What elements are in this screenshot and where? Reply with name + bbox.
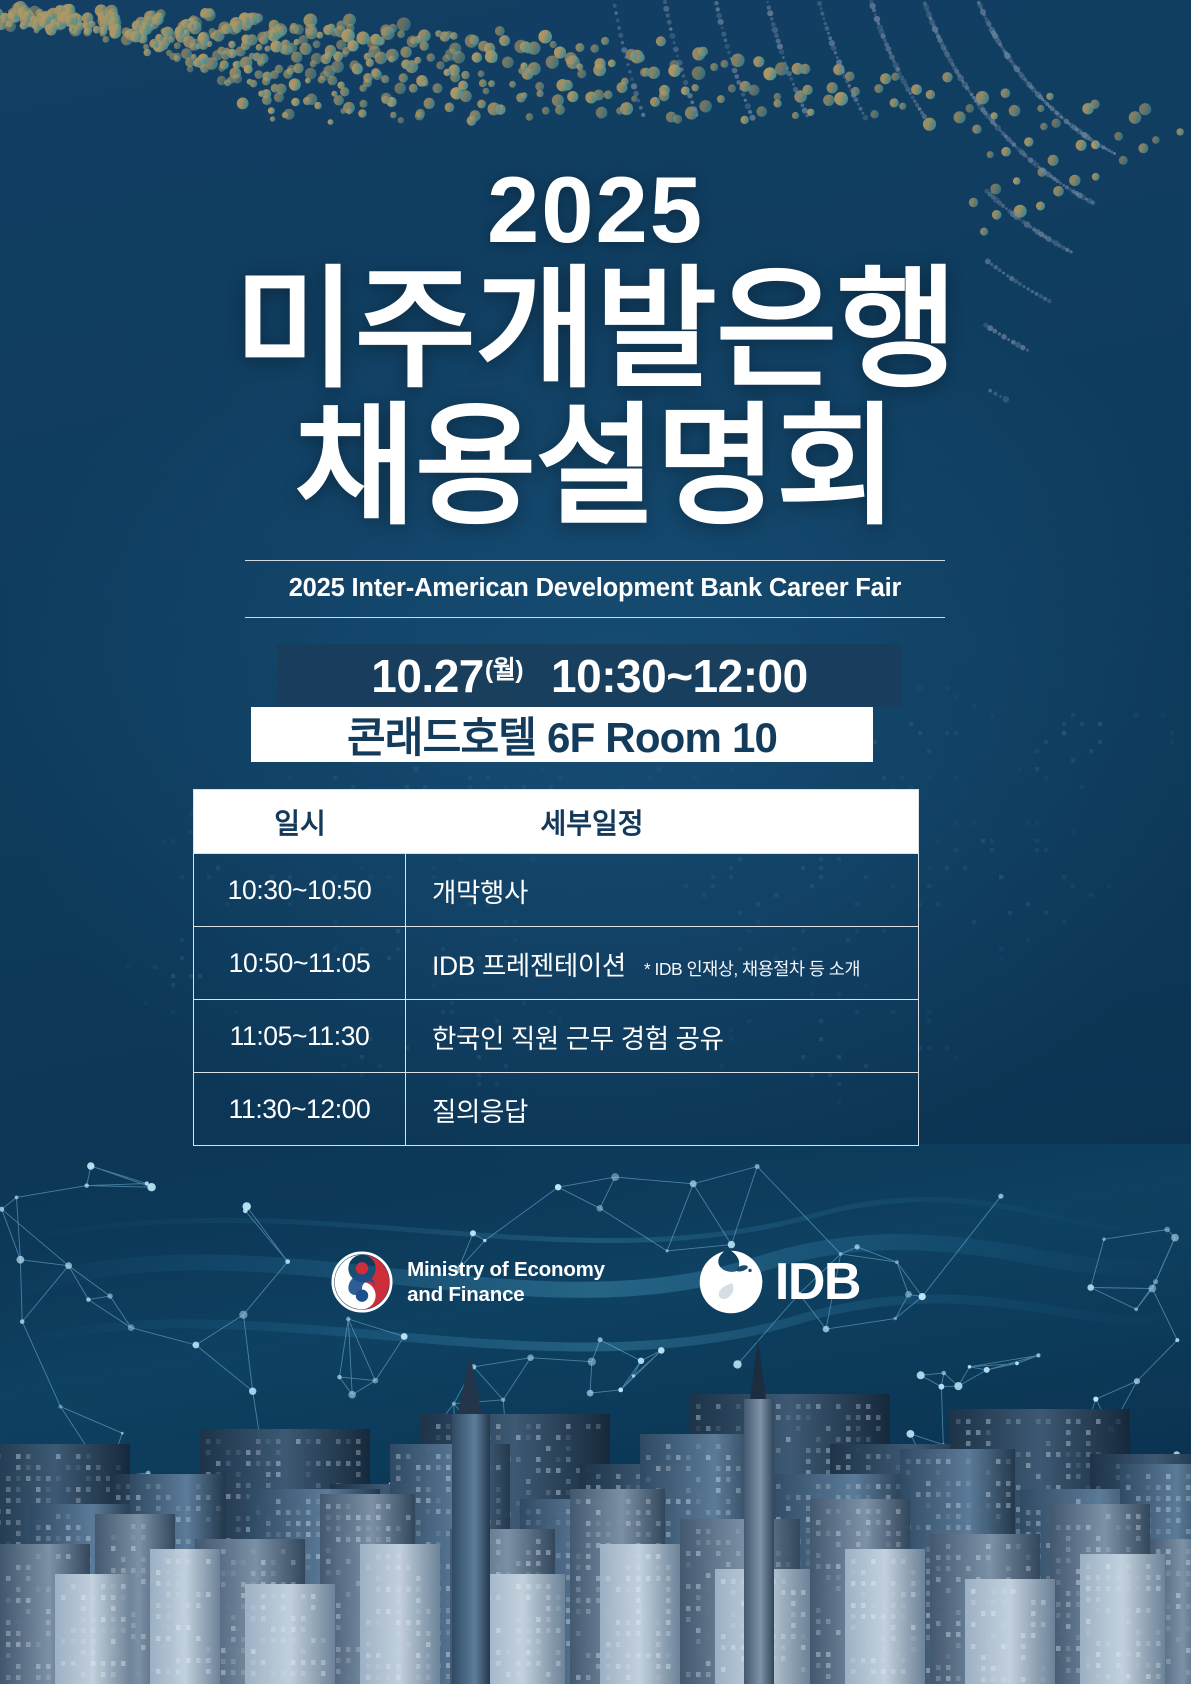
date-time-bar: 10.27 (월) 10:30~12:00 (277, 644, 902, 707)
venue-bar: 콘래드호텔 6F Room 10 (251, 707, 873, 762)
cell-detail: 한국인 직원 근무 경험 공유 (406, 1017, 918, 1056)
korea-taegeuk-icon (331, 1251, 393, 1313)
poster-year: 2025 (0, 163, 1191, 257)
cell-time: 10:50~11:05 (194, 927, 406, 999)
ministry-of-economy-and-finance-logo: Ministry of Economy and Finance (331, 1251, 605, 1313)
cell-detail: IDB 프레젠테이션 * IDB 인재상, 채용절차 등 소개 (406, 944, 918, 983)
page-title: 미주개발은행 채용설명회 (0, 265, 1191, 532)
detail-text: 질의응답 (432, 1090, 528, 1129)
idb-globe-icon (697, 1248, 765, 1316)
sponsor-logos: Ministry of Economy and Finance IDB (0, 1248, 1191, 1316)
cell-time: 10:30~10:50 (194, 854, 406, 926)
idb-logo-text: IDB (775, 1252, 860, 1312)
cell-time: 11:05~11:30 (194, 1000, 406, 1072)
subtitle-band: 2025 Inter-American Development Bank Car… (245, 560, 945, 618)
table-row: 11:05~11:30 한국인 직원 근무 경험 공유 (194, 999, 918, 1072)
cell-detail: 개막행사 (406, 871, 918, 910)
event-venue: 콘래드호텔 6F Room 10 (347, 704, 777, 765)
poster-subtitle: 2025 Inter-American Development Bank Car… (245, 574, 945, 603)
ministry-logo-text: Ministry of Economy and Finance (407, 1257, 605, 1307)
table-row: 10:50~11:05 IDB 프레젠테이션 * IDB 인재상, 채용절차 등… (194, 926, 918, 999)
column-header-detail: 세부일정 (406, 802, 918, 842)
title-line-1: 미주개발은행 (234, 256, 957, 403)
title-line-2: 채용설명회 (0, 402, 1191, 531)
detail-text: IDB 프레젠테이션 (432, 944, 626, 983)
table-row: 11:30~12:00 질의응답 (194, 1072, 918, 1145)
cell-time: 11:30~12:00 (194, 1073, 406, 1145)
event-day-of-week: (월) (485, 650, 523, 686)
event-date: 10.27 (371, 649, 484, 703)
cell-detail: 질의응답 (406, 1090, 918, 1129)
idb-logo: IDB (697, 1248, 860, 1316)
table-row: 10:30~10:50 개막행사 (194, 853, 918, 926)
column-header-time: 일시 (194, 802, 406, 842)
poster-canvas: 2025 미주개발은행 채용설명회 2025 Inter-American De… (0, 0, 1191, 1684)
detail-text: 한국인 직원 근무 경험 공유 (432, 1017, 724, 1056)
schedule-table: 일시 세부일정 10:30~10:50 개막행사 10:50~11:05 IDB… (193, 789, 919, 1146)
detail-text: 개막행사 (432, 871, 528, 910)
table-header-row: 일시 세부일정 (194, 790, 918, 853)
detail-note: * IDB 인재상, 채용절차 등 소개 (644, 956, 860, 981)
event-time-range: 10:30~12:00 (551, 649, 808, 703)
